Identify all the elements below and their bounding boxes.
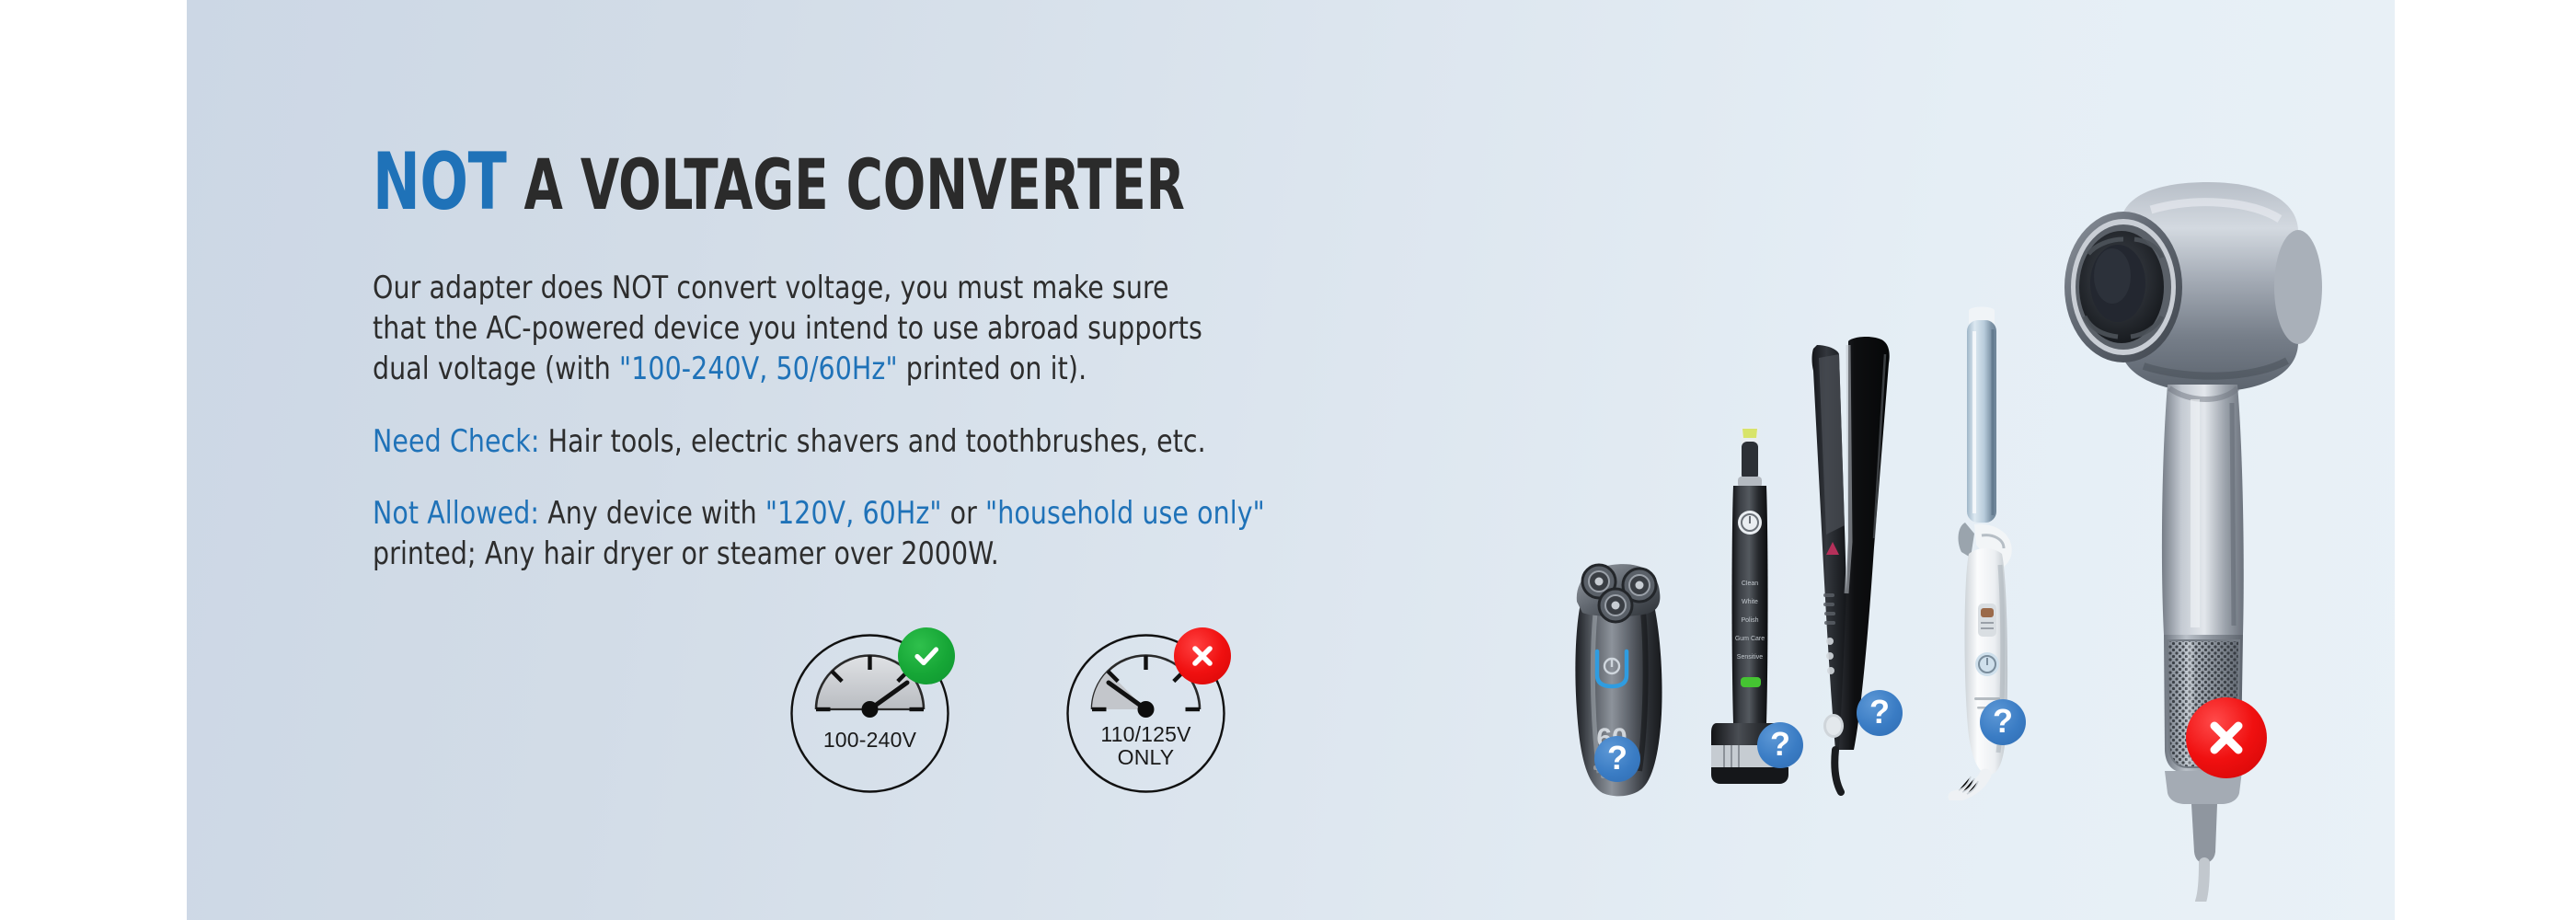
- intro-line-3-post: printed on it).: [898, 351, 1087, 387]
- gauge-single-voltage: 110/125V ONLY: [1065, 633, 1226, 794]
- gauge-dual-voltage: 100-240V: [789, 633, 950, 794]
- dual-voltage-spec: "100-240V, 50/60Hz": [619, 351, 898, 387]
- forbidden-spec-1: "120V, 60Hz": [765, 495, 942, 532]
- copy-block: NOT A VOLTAGE CONVERTER Our adapter does…: [373, 143, 1596, 574]
- voltage-gauge-group: 100-240V: [789, 633, 1305, 808]
- paragraph-intro: Our adapter does NOT convert voltage, yo…: [373, 268, 1511, 390]
- banner-panel: NOT A VOLTAGE CONVERTER Our adapter does…: [187, 0, 2395, 920]
- need-check-text: Hair tools, electric shavers and toothbr…: [540, 423, 1206, 460]
- gauge-label-line-1: 110/125V: [1100, 722, 1190, 746]
- need-check-label: Need Check:: [373, 423, 540, 460]
- not-allowed-text-a: Any device with: [539, 495, 765, 532]
- forbidden-spec-2: "household use only": [985, 495, 1265, 532]
- headline-emphasis: NOT: [373, 136, 506, 228]
- banner-root: NOT A VOLTAGE CONVERTER Our adapter does…: [0, 0, 2576, 920]
- status-badge-ok: [898, 627, 955, 684]
- not-allowed-text-b: or: [942, 495, 986, 532]
- gauge-label-single: 110/125V ONLY: [1065, 723, 1226, 769]
- intro-line-1: Our adapter does NOT convert voltage, yo…: [373, 270, 1169, 306]
- paragraph-need-check: Need Check: Hair tools, electric shavers…: [373, 421, 1511, 462]
- not-allowed-label: Not Allowed:: [373, 495, 539, 532]
- gauge-label-dual: 100-240V: [789, 729, 950, 752]
- headline-rest: A VOLTAGE CONVERTER: [506, 144, 1185, 225]
- not-allowed-line-2: printed; Any hair dryer or steamer over …: [373, 535, 999, 572]
- intro-line-3-pre: dual voltage (with: [373, 351, 619, 387]
- intro-line-2: that the AC-powered device you intend to…: [373, 310, 1202, 347]
- page-title: NOT A VOLTAGE CONVERTER: [373, 143, 1351, 222]
- check-icon: [910, 639, 943, 673]
- gauge-label-line-1: 100-240V: [823, 728, 916, 752]
- gauge-label-line-2: ONLY: [1118, 745, 1175, 769]
- paragraph-not-allowed: Not Allowed: Any device with "120V, 60Hz…: [373, 493, 1511, 574]
- x-icon: [1186, 639, 1219, 673]
- status-badge-not-allowed: [1174, 627, 1231, 684]
